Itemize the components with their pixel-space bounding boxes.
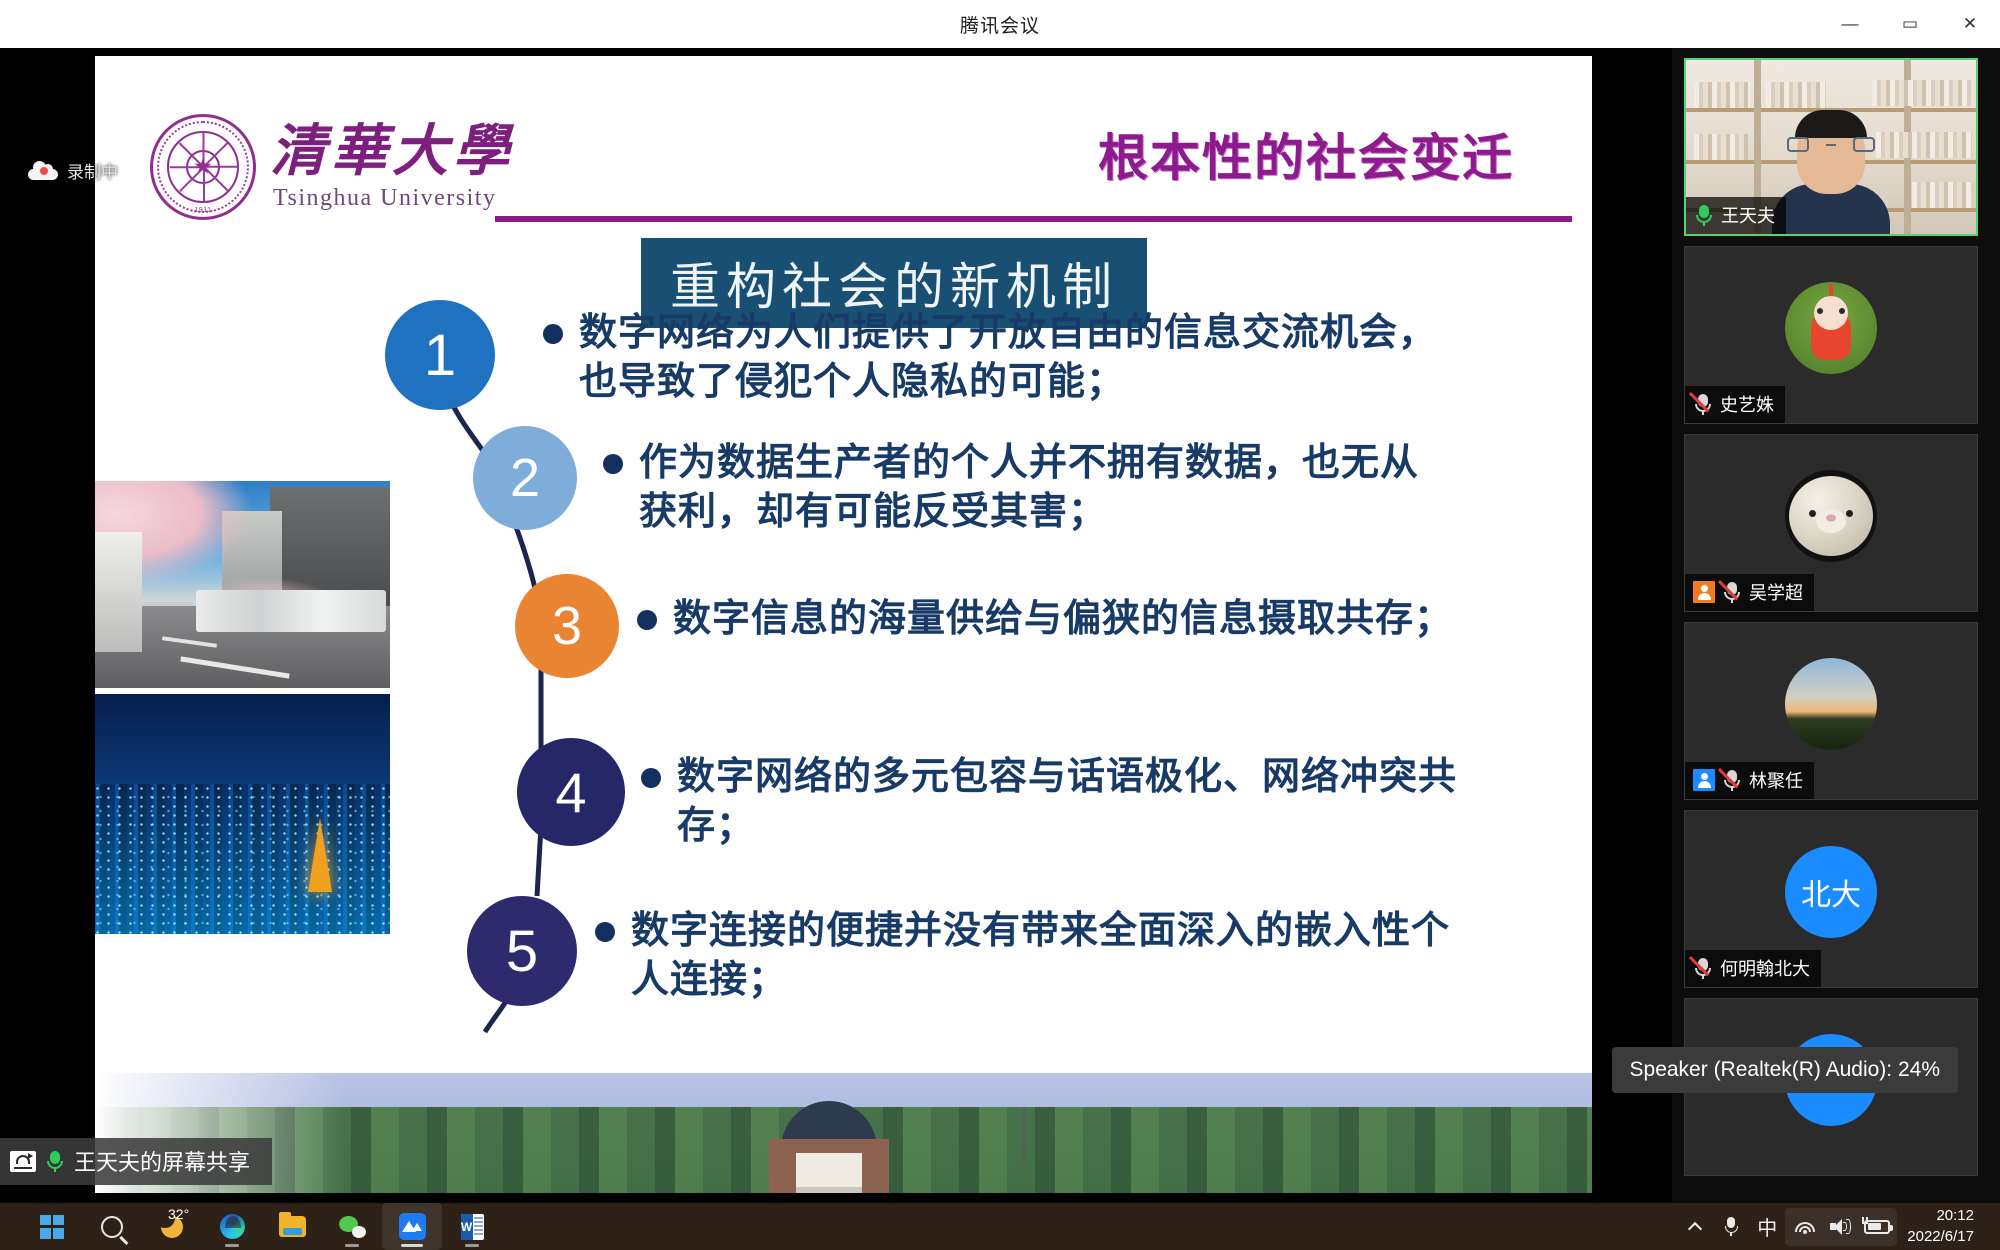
window-title: 腾讯会议 (960, 11, 1040, 38)
taskbar-weather-widget[interactable]: 32° (142, 1203, 202, 1250)
system-tray: 中 20:12 2022/6/17 (1677, 1203, 2000, 1250)
weather-temperature: 32° (168, 1206, 189, 1222)
participant-avatar (1785, 658, 1877, 750)
window-titlebar: 腾讯会议 — ▭ ✕ (0, 0, 2000, 48)
battery-charging-icon (1864, 1220, 1890, 1234)
step-line: 人连接； (631, 955, 1450, 1004)
participant-namebar: 吴学超 (1685, 574, 1814, 611)
step-line: 数字网络的多元包容与话语极化、网络冲突共 (677, 752, 1457, 801)
microphone-on-icon (1694, 204, 1714, 226)
participant-tile-wu-xuechao[interactable]: 吴学超 (1684, 434, 1978, 612)
step-number-5: 5 (506, 918, 538, 985)
step-text-4: 数字网络的多元包容与话语极化、网络冲突共 存； (641, 752, 1591, 849)
participant-avatar (1785, 470, 1877, 562)
step-line: 数字网络为人们提供了开放自由的信息交流机会， (579, 308, 1437, 357)
step-line: 存； (677, 801, 1457, 850)
folder-icon (279, 1216, 306, 1237)
tray-battery-button[interactable] (1859, 1203, 1895, 1250)
participant-tile-wang-tianfu[interactable]: 王天夫 (1684, 58, 1978, 236)
recording-indicator: 录制中 (28, 158, 118, 183)
clock-time: 20:12 (1907, 1206, 1974, 1226)
taskbar-tencent-meeting-button[interactable] (382, 1203, 442, 1250)
windows-logo-icon (40, 1215, 64, 1239)
photo-cherry-blossom-street (95, 481, 390, 688)
word-glyph: W (461, 1214, 473, 1240)
word-icon: W (461, 1214, 484, 1240)
wechat-icon (339, 1216, 366, 1238)
desktop-root: 腾讯会议 — ▭ ✕ 录制中 (0, 0, 2000, 1250)
tsinghua-auditorium-icon (755, 1101, 903, 1193)
bullet-dot (595, 922, 615, 942)
seal-year: ·1911· (192, 207, 215, 214)
search-icon (101, 1216, 123, 1238)
tray-microphone-button[interactable] (1713, 1203, 1749, 1250)
cloud-recording-icon (28, 161, 58, 180)
taskbar-word-button[interactable]: W (442, 1203, 502, 1250)
meeting-window-body: 录制中 ★ · (0, 48, 2000, 1203)
participant-video-person (1772, 118, 1890, 234)
step-circle-1: 1 (385, 300, 495, 410)
step-line: 也导致了侵犯个人隐私的可能； (579, 357, 1437, 406)
windows-taskbar: 32° W (0, 1203, 2000, 1250)
taskbar-wechat-button[interactable] (322, 1203, 382, 1250)
screen-share-label: 王天夫的屏幕共享 (74, 1145, 250, 1177)
participant-tile-he-minghan[interactable]: 北大 何明翰北大 (1684, 810, 1978, 988)
tencent-meeting-icon (399, 1213, 426, 1240)
logo-chinese-name: 清華大學 (270, 122, 514, 181)
taskbar-file-explorer-button[interactable] (262, 1203, 322, 1250)
participant-name: 林聚任 (1749, 767, 1803, 793)
step-line: 获利，却有可能反受其害； (639, 487, 1419, 536)
participant-namebar: 林聚任 (1685, 762, 1814, 799)
close-button[interactable]: ✕ (1940, 0, 2000, 48)
microphone-muted-icon (1722, 769, 1742, 791)
participant-namebar: 王天夫 (1686, 197, 1786, 234)
screen-share-indicator: 王天夫的屏幕共享 (0, 1138, 272, 1185)
window-controls: — ▭ ✕ (1820, 0, 2000, 48)
participant-avatar (1785, 282, 1877, 374)
microphone-on-icon (45, 1150, 65, 1172)
speaker-volume-tooltip: Speaker (Realtek(R) Audio): 24% (1612, 1047, 1958, 1093)
chevron-up-icon (1688, 1221, 1702, 1235)
photo-tokyo-night-skyline (95, 694, 390, 934)
start-button[interactable] (22, 1203, 82, 1250)
maximize-button[interactable]: ▭ (1880, 0, 1940, 48)
step-line: 作为数据生产者的个人并不拥有数据，也无从 (639, 438, 1419, 487)
avatar-initials: 北大 (1801, 870, 1861, 914)
edge-icon (220, 1214, 245, 1239)
step-line: 数字信息的海量供给与偏狭的信息摄取共存； (673, 594, 1453, 643)
bullet-dot (641, 768, 661, 788)
bullet-dot (603, 454, 623, 474)
step-circle-2: 2 (473, 426, 577, 530)
shared-screen-area: 录制中 ★ · (0, 48, 1672, 1203)
microphone-muted-icon (1693, 957, 1713, 979)
speaker-icon (1830, 1218, 1852, 1235)
taskbar-search-button[interactable] (82, 1203, 142, 1250)
logo-english-name: Tsinghua University (270, 185, 514, 212)
bullet-dot (543, 324, 563, 344)
tray-overflow-button[interactable] (1677, 1203, 1713, 1250)
clock-date: 2022/6/17 (1907, 1227, 1974, 1247)
microphone-icon (1725, 1217, 1738, 1236)
microphone-muted-icon (1693, 393, 1713, 415)
recording-label: 录制中 (67, 158, 118, 183)
taskbar-clock[interactable]: 20:12 2022/6/17 (1897, 1206, 1988, 1247)
step-circle-5: 5 (467, 896, 577, 1006)
participant-name: 王天夫 (1721, 202, 1775, 228)
bullet-dot (637, 610, 657, 630)
participants-sidebar[interactable]: 王天夫 史艺姝 (1672, 48, 2000, 1203)
tsinghua-seal-icon: ★ ·1911· (150, 114, 256, 220)
minimize-button[interactable]: — (1820, 0, 1880, 48)
host-badge-icon (1693, 581, 1715, 603)
slide-headline: 根本性的社会变迁 (1098, 118, 1514, 190)
participant-name: 何明翰北大 (1720, 955, 1810, 981)
microphone-muted-icon (1722, 581, 1742, 603)
tray-quick-settings[interactable] (1785, 1208, 1897, 1246)
participant-tile-shi-yishu[interactable]: 史艺姝 (1684, 246, 1978, 424)
slide-footer-image (95, 1073, 1592, 1193)
participant-name: 史艺姝 (1720, 391, 1774, 417)
presentation-slide: ★ ·1911· 清華大學 Tsinghua University 根本性的社会… (95, 56, 1592, 1193)
step-circle-3: 3 (515, 574, 619, 678)
tray-ime-button[interactable]: 中 (1749, 1203, 1785, 1250)
step-text-2: 作为数据生产者的个人并不拥有数据，也无从 获利，却有可能反受其害； (603, 438, 1553, 535)
step-number-1: 1 (424, 322, 456, 389)
step-text-5: 数字连接的便捷并没有带来全面深入的嵌入性个 人连接； (595, 906, 1575, 1003)
step-number-3: 3 (552, 595, 582, 657)
ime-indicator: 中 (1757, 1212, 1777, 1241)
tray-volume-button[interactable] (1823, 1203, 1859, 1250)
step-text-3: 数字信息的海量供给与偏狭的信息摄取共存； (637, 594, 1587, 643)
tsinghua-logo: ★ ·1911· 清華大學 Tsinghua University (150, 114, 514, 220)
step-number-4: 4 (555, 760, 586, 825)
step-circle-4: 4 (517, 738, 625, 846)
screen-share-icon (10, 1151, 36, 1172)
cohost-badge-icon (1693, 769, 1715, 791)
step-line: 数字连接的便捷并没有带来全面深入的嵌入性个 (631, 906, 1450, 955)
participant-namebar: 何明翰北大 (1685, 950, 1821, 987)
wifi-icon (1795, 1219, 1816, 1235)
headline-rule (495, 216, 1572, 222)
participant-name: 吴学超 (1749, 579, 1803, 605)
tray-wifi-button[interactable] (1787, 1203, 1823, 1250)
participant-avatar: 北大 (1785, 846, 1877, 938)
participant-tile-lin-juren[interactable]: 林聚任 (1684, 622, 1978, 800)
participant-namebar: 史艺姝 (1685, 386, 1785, 423)
taskbar-edge-button[interactable] (202, 1203, 262, 1250)
step-text-1: 数字网络为人们提供了开放自由的信息交流机会， 也导致了侵犯个人隐私的可能； (543, 308, 1533, 405)
step-number-2: 2 (510, 447, 540, 509)
